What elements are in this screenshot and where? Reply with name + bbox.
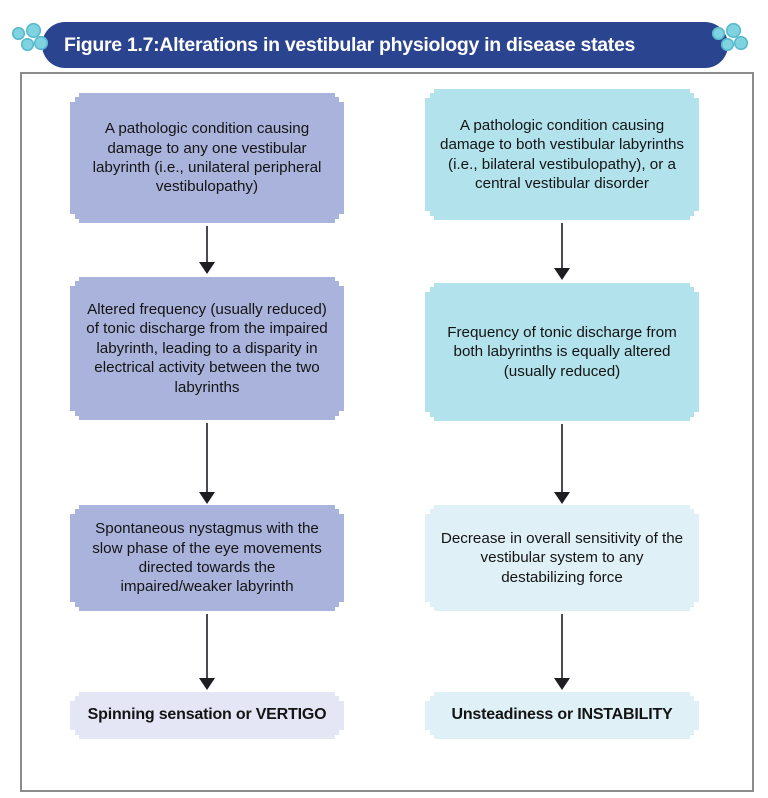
- dot-shape: [21, 38, 34, 51]
- arrow-head-icon: [554, 678, 570, 690]
- flow-node-right-3-text: Decrease in overall sensitivity of the v…: [437, 529, 687, 587]
- decorative-dots-icon: [712, 23, 756, 67]
- flow-node-right-2-text: Frequency of tonic discharge from both l…: [437, 323, 687, 381]
- flow-node-right-3: Decrease in overall sensitivity of the v…: [425, 505, 699, 611]
- arrow-shaft: [561, 614, 563, 679]
- arrow-shaft: [561, 223, 563, 269]
- dot-shape: [734, 36, 748, 50]
- arrow-shaft: [561, 424, 563, 493]
- figure-title-banner: Figure 1.7:Alterations in vestibular phy…: [42, 22, 728, 68]
- flow-node-left-1-text: A pathologic condition causing damage to…: [82, 119, 332, 197]
- flow-node-left-3: Spontaneous nystagmus with the slow phas…: [70, 505, 344, 611]
- arrow-head-icon: [199, 492, 215, 504]
- flow-node-right-1: A pathologic condition causing damage to…: [425, 89, 699, 220]
- dot-shape: [34, 36, 48, 50]
- decorative-dots-icon: [12, 23, 56, 67]
- flow-node-right-result-text: Unsteadiness or INSTABILITY: [451, 705, 672, 725]
- flow-node-right-2: Frequency of tonic discharge from both l…: [425, 283, 699, 421]
- flowchart-canvas: A pathologic condition causing damage to…: [0, 0, 768, 798]
- flow-node-right-result: Unsteadiness or INSTABILITY: [425, 692, 699, 739]
- flow-node-left-result-text: Spinning sensation or VERTIGO: [88, 705, 327, 725]
- flow-arrow-left-1: [196, 226, 218, 274]
- flow-arrow-right-2: [551, 424, 573, 504]
- arrow-shaft: [206, 614, 208, 679]
- flow-node-left-2: Altered frequency (usually reduced) of t…: [70, 277, 344, 420]
- arrow-head-icon: [199, 262, 215, 274]
- flow-node-right-1-text: A pathologic condition causing damage to…: [437, 116, 687, 194]
- arrow-head-icon: [199, 678, 215, 690]
- flow-node-left-result: Spinning sensation or VERTIGO: [70, 692, 344, 739]
- arrow-head-icon: [554, 268, 570, 280]
- flow-node-left-1: A pathologic condition causing damage to…: [70, 93, 344, 223]
- arrow-shaft: [206, 423, 208, 493]
- arrow-shaft: [206, 226, 208, 263]
- flow-arrow-right-3: [551, 614, 573, 690]
- arrow-head-icon: [554, 492, 570, 504]
- dot-shape: [721, 38, 734, 51]
- flow-arrow-left-2: [196, 423, 218, 504]
- flow-arrow-right-1: [551, 223, 573, 280]
- page-title: Figure 1.7:Alterations in vestibular phy…: [64, 34, 635, 57]
- flow-arrow-left-3: [196, 614, 218, 690]
- flow-node-left-2-text: Altered frequency (usually reduced) of t…: [82, 300, 332, 397]
- flow-node-left-3-text: Spontaneous nystagmus with the slow phas…: [82, 519, 332, 597]
